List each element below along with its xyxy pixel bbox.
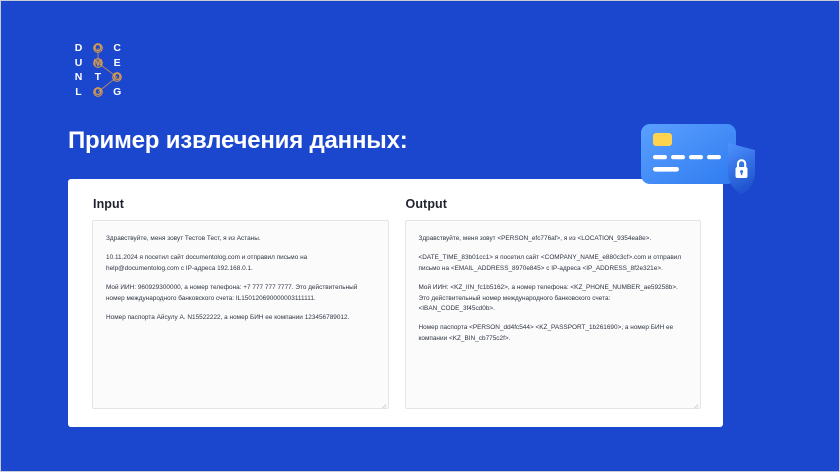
card-shield-icon — [633, 117, 773, 195]
output-paragraph: Номер паспорта <PERSON_dd4fc544> <KZ_PAS… — [419, 323, 689, 344]
input-paragraph: 10.11.2024 я посетил сайт documentolog.c… — [106, 253, 376, 274]
output-paragraph: Здравствуйте, меня зовут <PERSON_efc776a… — [419, 234, 689, 244]
logo-letter: N — [69, 70, 88, 85]
logo-letter: M — [88, 56, 107, 71]
logo-letter: E — [108, 56, 127, 71]
logo-letter: O — [88, 85, 107, 100]
output-column: Output Здравствуйте, меня зовут <PERSON_… — [405, 197, 702, 409]
documentolog-logo: D O C U M E N T O L O G — [69, 41, 127, 99]
logo-letter: T — [88, 70, 107, 85]
input-textarea[interactable]: Здравствуйте, меня зовут Тестов Тест, я … — [92, 220, 389, 409]
logo-letter: D — [69, 41, 88, 56]
page-title: Пример извлечения данных: — [68, 127, 408, 155]
slide-canvas: D O C U M E N T O L O G Пример извлечени… — [0, 0, 840, 472]
credit-card-shield-illustration — [633, 117, 773, 195]
logo-letter: L — [69, 85, 88, 100]
input-paragraph: Здравствуйте, меня зовут Тестов Тест, я … — [106, 234, 376, 244]
logo-letter: C — [108, 41, 127, 56]
output-label: Output — [406, 197, 702, 211]
input-label: Input — [93, 197, 389, 211]
resize-handle-icon[interactable] — [689, 397, 698, 406]
output-paragraph: <DATE_TIME_83b01cc1> я посетил сайт <COM… — [419, 253, 689, 274]
input-paragraph: Мой ИИН: 960929300000, а номер телефона:… — [106, 283, 376, 304]
output-textarea[interactable]: Здравствуйте, меня зовут <PERSON_efc776a… — [405, 220, 702, 409]
example-panel: Input Здравствуйте, меня зовут Тестов Те… — [68, 179, 723, 427]
logo-letter: U — [69, 56, 88, 71]
logo-letter: O — [108, 70, 127, 85]
output-paragraph: Мой ИИН: <KZ_IIN_fc1b5162>, а номер теле… — [419, 283, 689, 314]
logo-letter-grid: D O C U M E N T O L O G — [69, 41, 127, 99]
input-paragraph: Номер паспорта Айсулу А. N15522222, а но… — [106, 313, 376, 323]
resize-handle-icon[interactable] — [377, 397, 386, 406]
logo-letter: G — [108, 85, 127, 100]
logo-letter: O — [88, 41, 107, 56]
input-column: Input Здравствуйте, меня зовут Тестов Те… — [92, 197, 389, 409]
